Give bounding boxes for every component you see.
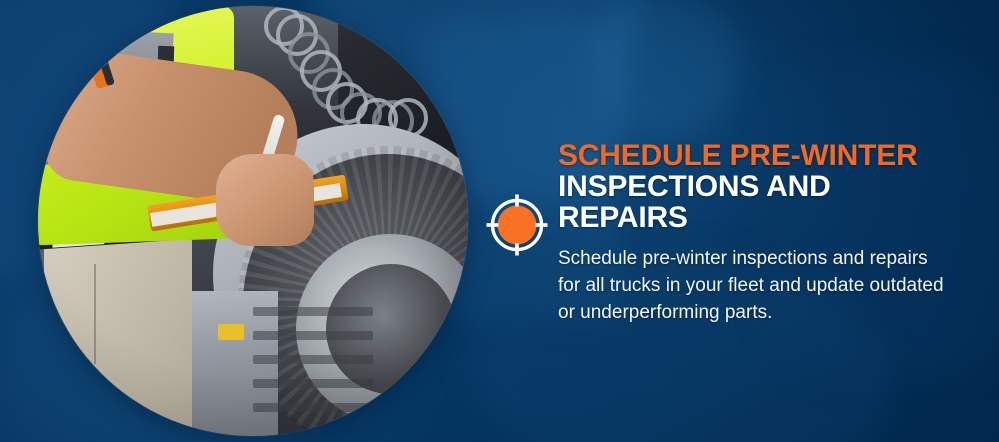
promo-banner: SCHEDULE PRE-WINTER INSPECTIONS AND REPA…: [0, 0, 999, 442]
banner-body-text: Schedule pre-winter inspections and repa…: [558, 245, 950, 326]
heading-line-2: INSPECTIONS AND REPAIRS: [558, 171, 958, 233]
banner-content: SCHEDULE PRE-WINTER INSPECTIONS AND REPA…: [558, 140, 958, 326]
banner-heading: SCHEDULE PRE-WINTER INSPECTIONS AND REPA…: [558, 140, 958, 233]
crosshair-target-icon: [486, 194, 548, 256]
heading-line-1: SCHEDULE PRE-WINTER: [558, 140, 958, 171]
photo-inner: [38, 6, 468, 436]
truck-inspection-photo: [38, 6, 468, 436]
photo-edge-shadow: [38, 6, 468, 436]
